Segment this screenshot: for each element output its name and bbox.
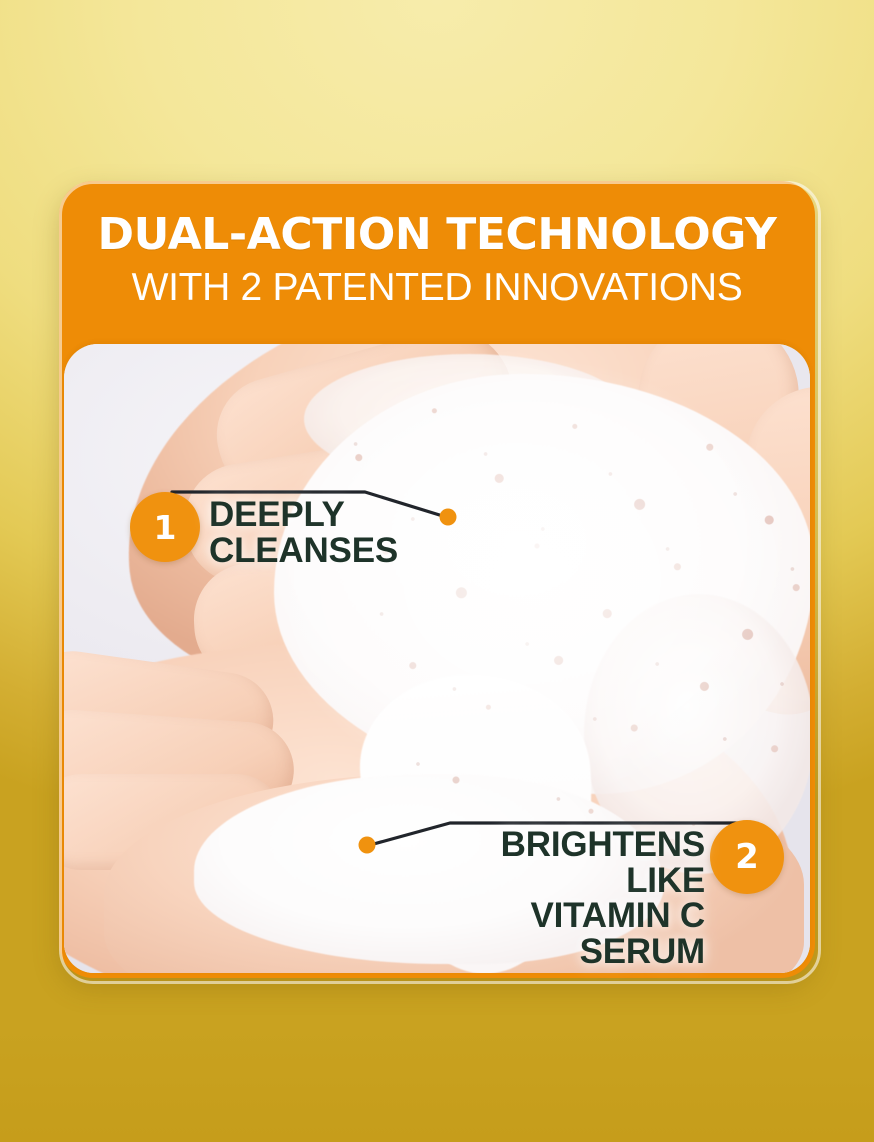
poster-root: DUAL-ACTION TECHNOLOGY WITH 2 PATENTED I… — [0, 0, 874, 1142]
callout-label-2: BRIGHTENS LIKE VITAMIN C SERUM — [430, 827, 705, 970]
leader-dot-2 — [359, 837, 376, 854]
callout-badge-2: 2 — [710, 820, 784, 894]
callout-badge-2-number: 2 — [735, 837, 759, 877]
leader-line-2 — [0, 0, 874, 1142]
